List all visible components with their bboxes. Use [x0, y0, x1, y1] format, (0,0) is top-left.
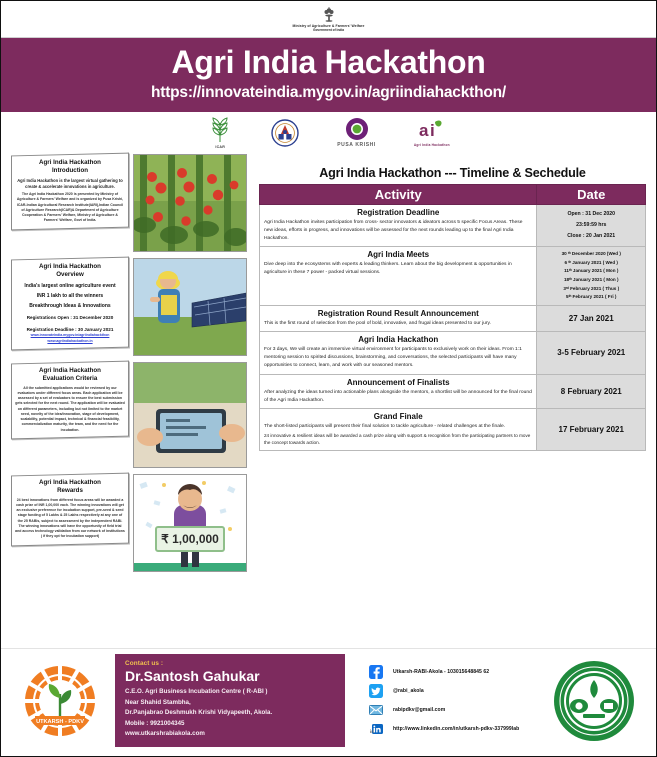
- table-row: Announcement of Finalists After analyzin…: [260, 374, 646, 408]
- linkedin-icon: in: [369, 722, 383, 736]
- rewards-card: Agri India Hackathon Rewards 24 best inn…: [11, 472, 129, 546]
- rewards-card-title: Agri India Hackathon: [15, 479, 125, 487]
- linkedin-url: http://www.linkedin.com/in/utkarsh-pdkv-…: [393, 726, 519, 732]
- evaluation-card: Agri India Hackathon Evaluation Criteria…: [11, 360, 129, 439]
- activity-title: Registration Deadline: [264, 208, 532, 217]
- activity-cell: Announcement of Finalists After analyzin…: [260, 374, 537, 408]
- pdkv-akola-seal-icon: [546, 660, 642, 742]
- intro-card-body: The Agri India Hackathon 2020 is present…: [15, 192, 125, 224]
- activity-title: Agri India Hackathon: [264, 335, 532, 344]
- intro-card-subtitle: Introduction: [15, 167, 125, 175]
- overview-line-1: India's largest online agriculture event: [15, 282, 125, 289]
- iari-pusa-logo: [271, 119, 299, 147]
- rewards-card-body: 24 best innovations from different focus…: [15, 497, 125, 539]
- overview-link-2[interactable]: www.agriindiahackathon.in: [15, 338, 125, 344]
- date-line: Close : 20 Jan 2021: [541, 231, 641, 242]
- activity-title: Grand Finale: [264, 412, 532, 421]
- ministry-header: Ministry of Agriculture & Farmers' Welfa…: [1, 1, 656, 38]
- date-cell: 17 February 2021: [537, 408, 646, 450]
- table-row: Agri India Hackathon For 3 days, We will…: [260, 332, 646, 374]
- date-line: 17 February 2021: [541, 425, 641, 434]
- overview-block: Agri India Hackathon Overview India's la…: [11, 258, 251, 356]
- date-line: 27 Jan 2021: [541, 314, 641, 323]
- contact-name: Dr.Santosh Gahukar: [125, 668, 335, 685]
- activity-cell: Agri India Meets Dive deep into the ecos…: [260, 246, 537, 305]
- agri-india-hackathon-logo: a i Agri India Hackathon: [414, 119, 450, 147]
- india-state-emblem-icon: [322, 6, 336, 23]
- col-activity: Activity: [260, 184, 537, 204]
- tomato-greenhouse-photo: [133, 154, 247, 252]
- evaluation-card-title: Agri India Hackathon: [15, 367, 125, 375]
- date-cell: 8 February 2021: [537, 374, 646, 408]
- svg-text:i: i: [430, 121, 435, 140]
- activity-cell: Grand Finale The short-listed participan…: [260, 408, 537, 450]
- registration-deadline: Registration Deadline : 30 January 2021: [15, 325, 125, 332]
- activity-description: Dive deep into the ecosystems with exper…: [264, 261, 532, 277]
- solar-panel-engineer-photo: [133, 258, 247, 356]
- intro-block: Agri India Hackathon Introduction Agri I…: [11, 154, 251, 252]
- activity-title: Agri India Meets: [264, 250, 532, 259]
- partner-logos: ICAR PUSA KRISHI a i: [1, 112, 656, 154]
- email-address: rabipdkv@gmail.com: [393, 707, 445, 713]
- activity-description-2: 24 innovative & resilient ideas will be …: [264, 432, 532, 447]
- date-line: 11ᵗʰ January 2021 ( Mon ): [541, 267, 641, 276]
- overview-card-subtitle: Overview: [15, 271, 125, 279]
- facebook-handle: Utkarsh-RABI-Akola - 103015648845 62: [393, 669, 489, 675]
- social-links: Utkarsh-RABI-Akola - 103015648845 62 @ra…: [355, 665, 536, 736]
- date-line: 3-5 February 2021: [541, 348, 641, 357]
- schedule-title: Agri India Hackathon --- Timeline & Sech…: [259, 166, 646, 180]
- date-line: 18ᵗʰ January 2021 ( Mon ): [541, 276, 641, 285]
- contact-line: C.E.O. Agri Business Incubation Centre (…: [125, 687, 335, 698]
- activity-title: Registration Round Result Announcement: [264, 309, 532, 318]
- event-url[interactable]: https://innovateindia.mygov.in/agriindia…: [1, 84, 656, 102]
- date-cell: 3-5 February 2021: [537, 332, 646, 374]
- title-banner: Agri India Hackathon https://innovateind…: [1, 38, 656, 112]
- contact-label: Contact us :: [125, 660, 335, 667]
- svg-text:a: a: [419, 121, 429, 140]
- schedule-column: Agri India Hackathon --- Timeline & Sech…: [259, 154, 646, 648]
- contact-line: Dr.Panjabrao Deshmukh Krishi Vidyapeeth,…: [125, 708, 335, 719]
- left-cards-column: Agri India Hackathon Introduction Agri I…: [11, 154, 251, 648]
- date-line: 3ʳᵈ February 2021 ( Thus ): [541, 285, 641, 294]
- ministry-line-2: Government of India: [313, 28, 344, 32]
- overview-card: Agri India Hackathon Overview India's la…: [11, 256, 129, 350]
- evaluation-card-subtitle: Evaluation Criteria: [15, 375, 125, 383]
- poster-root: Ministry of Agriculture & Farmers' Welfa…: [0, 0, 657, 757]
- evaluation-block: Agri India Hackathon Evaluation Criteria…: [11, 362, 251, 468]
- table-row: Registration Deadline Agri India Hackath…: [260, 204, 646, 246]
- footer: UTKARSH - PDKV Contact us : Dr.Santosh G…: [1, 648, 656, 753]
- twitter-icon: [369, 684, 383, 698]
- col-date: Date: [537, 184, 646, 204]
- utkarsh-pdkv-seal-icon: UTKARSH - PDKV: [15, 664, 105, 738]
- twitter-handle: @rabi_akola: [393, 688, 424, 694]
- tablet-field-photo: [133, 362, 247, 468]
- social-row-email[interactable]: rabipdkv@gmail.com: [369, 703, 536, 717]
- date-line: 6 ᵗʰ January 2021 ( Wed ): [541, 259, 641, 268]
- activity-title: Announcement of Finalists: [264, 378, 532, 387]
- date-line: Open : 31 Dec 2020: [541, 209, 641, 220]
- contact-line: Near Shahid Stambha,: [125, 698, 335, 709]
- activity-description: After analyzing the ideas turned into ac…: [264, 389, 532, 405]
- activity-description: The short-listed participants will prese…: [264, 423, 532, 431]
- date-cell: 27 Jan 2021: [537, 306, 646, 332]
- schedule-table: Activity Date Registration Deadline Agri…: [259, 184, 646, 451]
- activity-description: Agri India Hackathon invites participati…: [264, 219, 532, 243]
- date-line: 8 February 2021: [541, 387, 641, 396]
- table-row: Grand Finale The short-listed participan…: [260, 408, 646, 450]
- intro-card-lead: Agri India Hackathon is the largest virt…: [15, 177, 125, 189]
- contact-website[interactable]: www.utkarshrabiakola.com: [125, 729, 335, 740]
- activity-cell: Registration Deadline Agri India Hackath…: [260, 204, 537, 246]
- prize-cheque-photo: ₹ 1,00,000: [133, 474, 247, 572]
- poster-body: Agri India Hackathon Introduction Agri I…: [1, 154, 656, 648]
- table-header-row: Activity Date: [260, 184, 646, 204]
- activity-description: This is the first round of selection fro…: [264, 320, 532, 328]
- table-row: Agri India Meets Dive deep into the ecos…: [260, 246, 646, 305]
- overview-link-1[interactable]: www.innovateindia.mygov.in/agriindiahack…: [15, 333, 125, 339]
- intro-card: Agri India Hackathon Introduction Agri I…: [11, 152, 129, 229]
- date-cell: 30 ᵗʰ December 2020 (Wed ) 6 ᵗʰ January …: [537, 246, 646, 305]
- overview-line-2: INR 1 lakh to all the winners: [15, 293, 125, 300]
- pusa-krishi-logo: PUSA KRISHI: [337, 117, 376, 148]
- contact-panel: Contact us : Dr.Santosh Gahukar C.E.O. A…: [115, 654, 345, 747]
- date-line: 5ᵗʰ February 2021 ( Fri ): [541, 293, 641, 302]
- social-row-twitter[interactable]: @rabi_akola: [369, 684, 536, 698]
- intro-card-title: Agri India Hackathon: [15, 159, 125, 167]
- page-title: Agri India Hackathon: [1, 46, 656, 80]
- activity-cell: Registration Round Result Announcement T…: [260, 306, 537, 332]
- email-icon: [369, 703, 383, 717]
- date-line: 30 ᵗʰ December 2020 (Wed ): [541, 250, 641, 259]
- date-cell: Open : 31 Dec 2020 23:59:59 hrs Close : …: [537, 204, 646, 246]
- rewards-block: Agri India Hackathon Rewards 24 best inn…: [11, 474, 251, 572]
- contact-line: Mobile : 9921004345: [125, 719, 335, 730]
- icar-logo: ICAR: [207, 116, 233, 149]
- overview-card-title: Agri India Hackathon: [15, 263, 125, 271]
- icar-logo-caption: ICAR: [215, 145, 225, 149]
- activity-cell: Agri India Hackathon For 3 days, We will…: [260, 332, 537, 374]
- svg-text:UTKARSH - PDKV: UTKARSH - PDKV: [36, 719, 84, 725]
- cheque-amount: ₹ 1,00,000: [161, 532, 219, 546]
- registration-open: Registrations Open : 31 December 2020: [15, 314, 125, 321]
- rewards-card-subtitle: Rewards: [15, 487, 125, 495]
- date-line: 23:59:59 hrs: [541, 220, 641, 231]
- table-row: Registration Round Result Announcement T…: [260, 306, 646, 332]
- agri-india-hackathon-logo-caption: Agri India Hackathon: [414, 143, 450, 147]
- overview-line-3: Breakthrough Ideas & Innovations: [15, 303, 125, 310]
- facebook-icon: [369, 665, 383, 679]
- pusa-krishi-logo-caption: PUSA KRISHI: [337, 142, 376, 148]
- activity-description: For 3 days, We will create an immersive …: [264, 346, 532, 370]
- social-row-linkedin[interactable]: in http://www.linkedin.com/in/utkarsh-pd…: [369, 722, 536, 736]
- social-row-facebook[interactable]: Utkarsh-RABI-Akola - 103015648845 62: [369, 665, 536, 679]
- evaluation-card-body: All the submitted applications would be …: [15, 385, 125, 432]
